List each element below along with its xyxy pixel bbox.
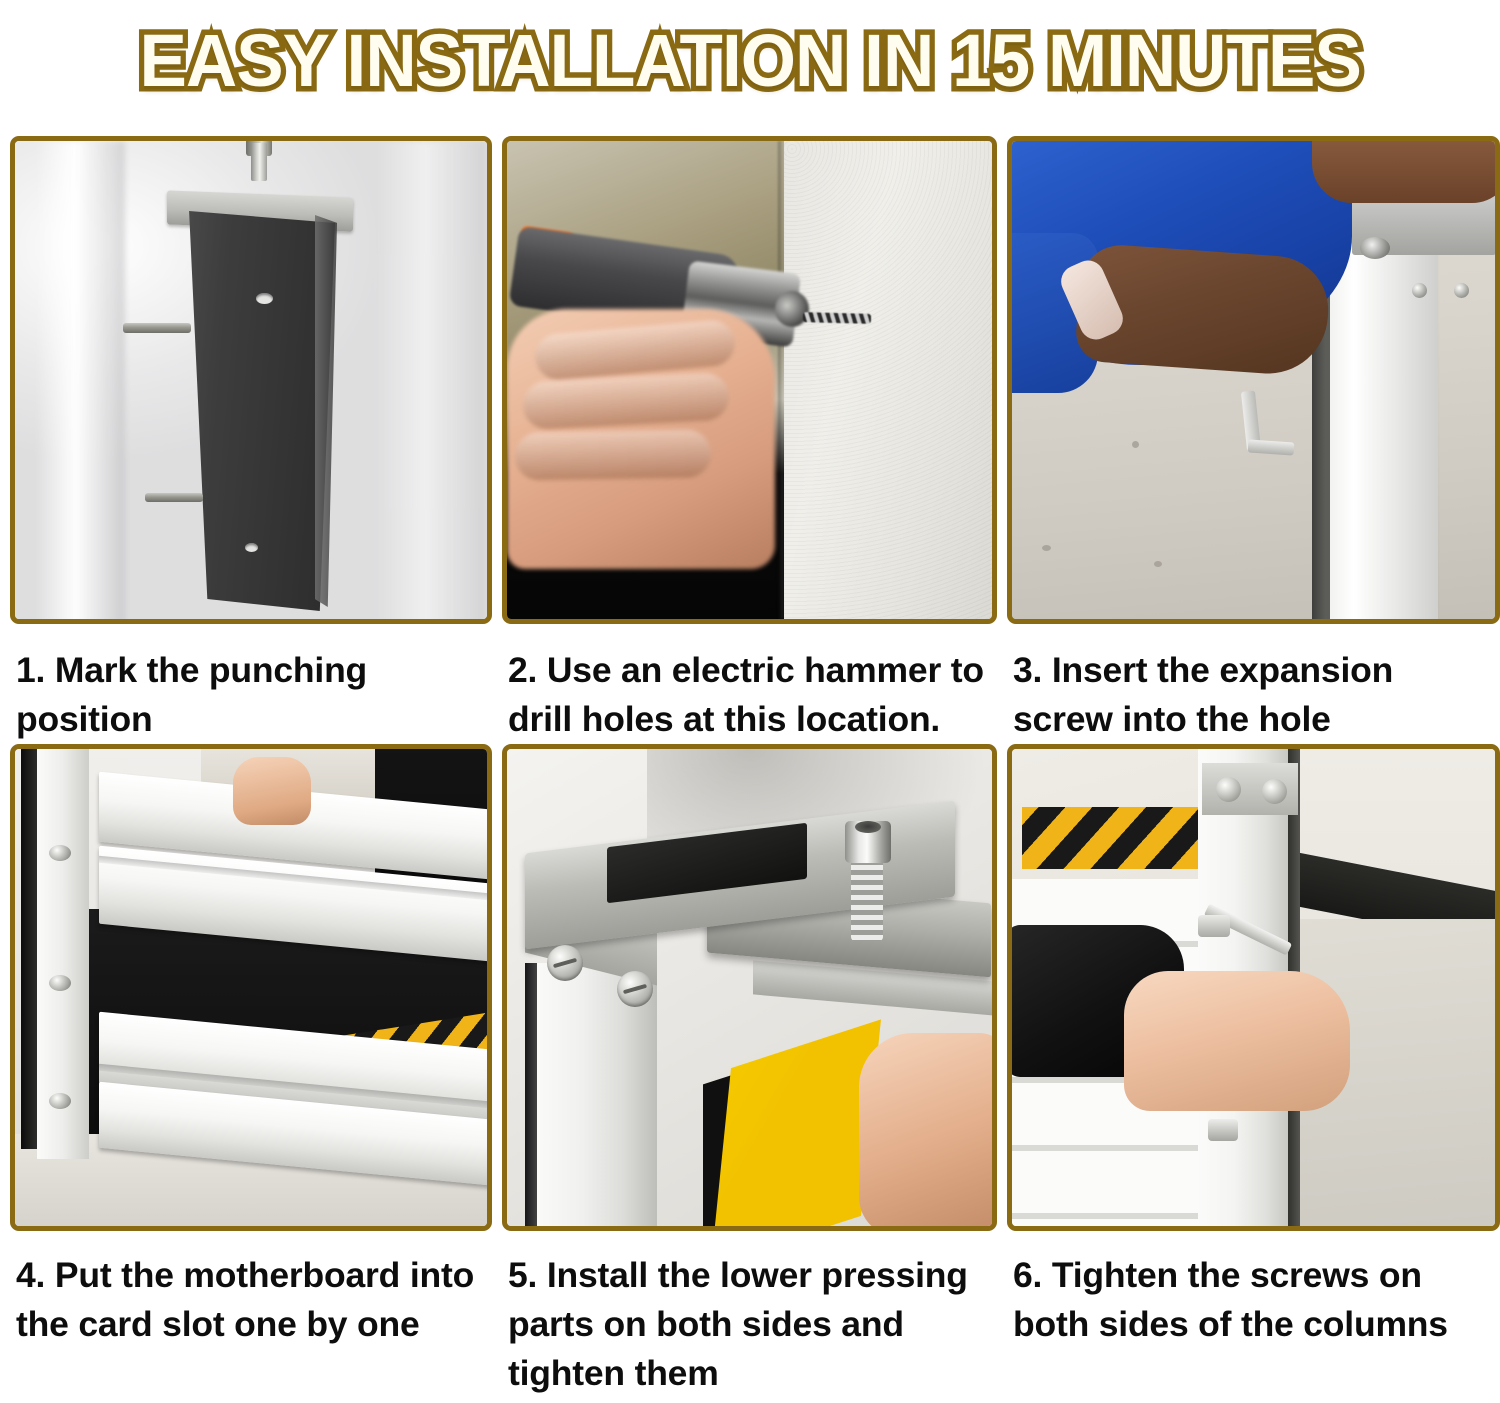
bracket-screw-right [617, 971, 653, 1007]
column-screw [49, 845, 71, 861]
post-top-bolt [251, 143, 267, 181]
floor-speck [1042, 545, 1051, 551]
step-4-photo [10, 744, 492, 1231]
post-hole-lower [245, 543, 258, 552]
worker-second-hand [1312, 136, 1500, 203]
step-2-photo [502, 136, 997, 624]
hand-placing-board [233, 757, 311, 825]
textured-wall [784, 141, 992, 619]
screw-slot [553, 958, 577, 968]
cloth-fold [35, 141, 125, 624]
column-screw [49, 975, 71, 991]
expansion-rod-lower [145, 493, 203, 502]
title-banner: EASY INSTALLATION IN 15 MINUTES [0, 0, 1500, 118]
wrench-head [1198, 915, 1230, 937]
step-4: 4. Put the motherboard into the card slo… [10, 744, 492, 1398]
column-bolt [1412, 283, 1427, 298]
step-1-photo [10, 136, 492, 624]
column-top-screw-right [1262, 779, 1287, 804]
finger [515, 429, 712, 480]
screw-slot [623, 984, 647, 994]
cloth-fold [375, 141, 485, 624]
step-2-caption: 2. Use an electric hammer to drill holes… [502, 624, 997, 744]
column-bolt [1454, 283, 1469, 298]
step-3-photo [1007, 136, 1500, 624]
lower-column-screw [1208, 1119, 1238, 1141]
bracket-screw-left [547, 945, 583, 981]
post-body [183, 211, 335, 611]
step-2: 2. Use an electric hammer to drill holes… [502, 136, 997, 744]
wall-edge [778, 141, 784, 619]
step-6: 6. Tighten the screws on both sides of t… [1007, 744, 1500, 1398]
bolt-hex-socket [855, 821, 881, 833]
page-title: EASY INSTALLATION IN 15 MINUTES [139, 24, 1360, 98]
step-4-caption: 4. Put the motherboard into the card slo… [10, 1231, 492, 1349]
floor-speck [1154, 561, 1162, 567]
step-5-caption: 5. Install the lower pressing parts on b… [502, 1231, 997, 1398]
step-1: 1. Mark the punching position [10, 136, 492, 744]
expansion-screw [1360, 237, 1390, 259]
step-1-caption: 1. Mark the punching position [10, 624, 492, 744]
floor-speck [1132, 441, 1139, 448]
infographic-page: EASY INSTALLATION IN 15 MINUTES 1. Mark … [0, 0, 1500, 1403]
hand-tightening-screw [1124, 971, 1350, 1111]
drill-bit [803, 312, 871, 324]
step-3-caption: 3. Insert the expansion screw into the h… [1007, 624, 1500, 744]
column-screw [49, 1093, 71, 1109]
step-6-caption: 6. Tighten the screws on both sides of t… [1007, 1231, 1500, 1349]
step-5-photo [502, 744, 997, 1231]
steps-grid: 1. Mark the punching position 2. Use an … [10, 136, 1490, 1398]
column-top-screw-left [1216, 777, 1241, 802]
hand-supporting-bracket [859, 1033, 997, 1231]
hazard-stripe [1022, 807, 1198, 869]
step-5: 5. Install the lower pressing parts on b… [502, 744, 997, 1398]
post-hole-upper [256, 293, 273, 304]
step-3: 3. Insert the expansion screw into the h… [1007, 136, 1500, 744]
expansion-rod-upper [123, 323, 191, 333]
step-6-photo [1007, 744, 1500, 1231]
